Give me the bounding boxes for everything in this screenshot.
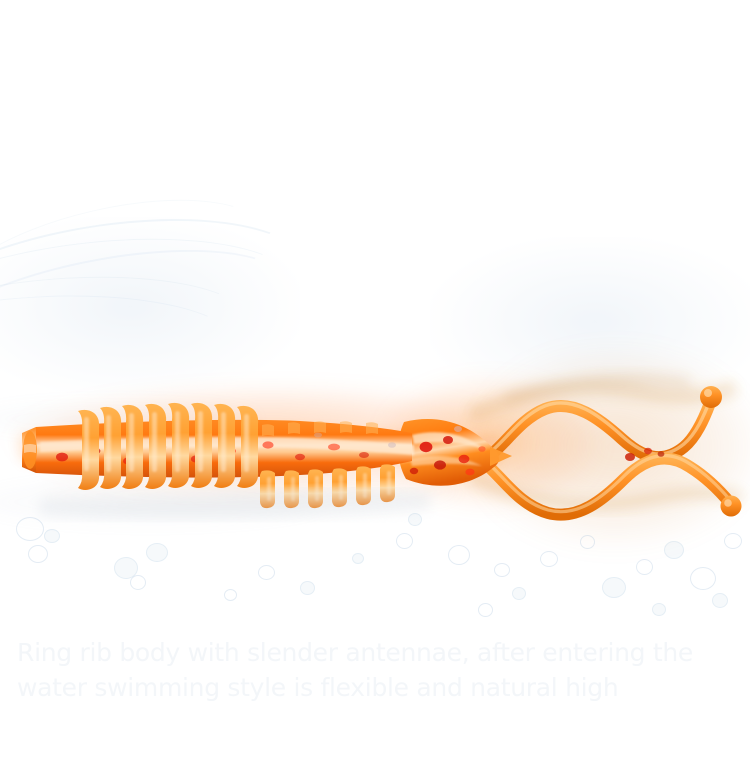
- water-ripple: [0, 173, 281, 367]
- water-ripple: [0, 193, 323, 411]
- bubble: [512, 587, 526, 600]
- water-ripple: [0, 262, 257, 419]
- bubble: [580, 535, 595, 549]
- antennae-glow: [470, 347, 750, 547]
- bubble: [130, 575, 146, 590]
- description-line-1: Ring rib body with slender antennae, aft…: [17, 635, 743, 670]
- lure-body-glow: [10, 385, 530, 495]
- bubble: [724, 533, 742, 549]
- bubble: [146, 543, 168, 562]
- bubble: [712, 593, 728, 608]
- bubble: [28, 545, 48, 563]
- bubble: [448, 545, 470, 565]
- bubble: [224, 589, 237, 601]
- page-title: Wonderful Fluctuations: [0, 131, 750, 197]
- description-line-3: frequency the fluctuation attracts the t…: [17, 705, 743, 712]
- bubble: [494, 563, 510, 577]
- bubble: [478, 603, 493, 617]
- bubble: [396, 533, 413, 549]
- bubble: [690, 567, 716, 590]
- lure-head-glow: [380, 377, 600, 507]
- water-haze-left: [0, 217, 300, 397]
- bubble: [114, 557, 138, 579]
- product-description: Ring rib body with slender antennae, aft…: [17, 635, 743, 712]
- bubble: [352, 553, 364, 564]
- description-line-2: water swimming style is flexible and nat…: [17, 670, 743, 705]
- water-haze-right: [430, 237, 750, 407]
- dark-navy-panel: Wonderful Fluctuations Ring rib body wit…: [0, 47, 750, 712]
- bubble: [16, 517, 44, 541]
- bubble: [652, 603, 666, 616]
- product-banner: Wonderful Fluctuations Ring rib body wit…: [0, 0, 750, 763]
- bubble: [44, 529, 60, 543]
- water-ripple: [0, 282, 246, 443]
- bubble: [602, 577, 626, 598]
- bubble: [408, 513, 422, 526]
- bubble: [636, 559, 653, 575]
- bubble: [300, 581, 315, 595]
- bubble: [540, 551, 558, 567]
- bubble: [258, 565, 275, 580]
- bubble: [664, 541, 684, 559]
- water-ripple: [0, 217, 309, 411]
- water-ripple: [0, 224, 302, 419]
